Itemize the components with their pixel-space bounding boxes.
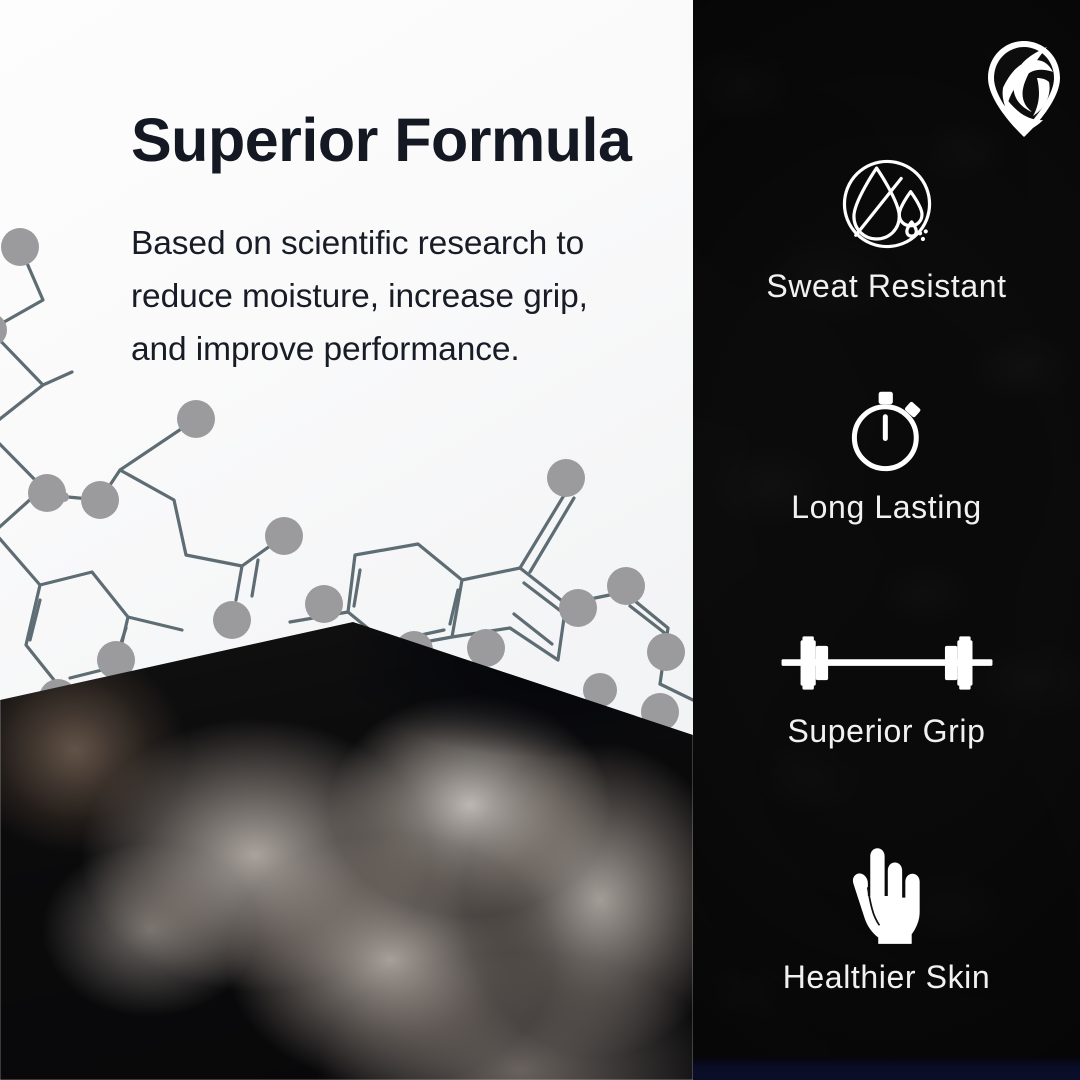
feature-label: Healthier Skin <box>693 961 1080 993</box>
feature-label: Long Lasting <box>693 491 1080 523</box>
brand-leaf-logo <box>983 38 1065 138</box>
left-panel: Superior Formula Based on scientific res… <box>0 0 693 1080</box>
barbell-icon <box>777 625 997 701</box>
open-hand-icon <box>843 845 931 947</box>
page-title: Superior Formula <box>131 109 671 172</box>
water-drop-no-sweat-icon <box>835 152 939 256</box>
feature-superior-grip: Superior Grip <box>693 625 1080 747</box>
infographic-canvas: Superior Formula Based on scientific res… <box>0 0 1080 1080</box>
bottom-accent-bar <box>693 1058 1080 1080</box>
feature-label: Sweat Resistant <box>693 270 1080 302</box>
right-feature-panel: Sweat Resistant Long Lasting <box>693 0 1080 1080</box>
chalked-hands-photo <box>0 600 693 1080</box>
subheadline-text: Based on scientific research to reduce m… <box>131 217 651 377</box>
feature-healthier-skin: Healthier Skin <box>693 845 1080 993</box>
stopwatch-icon <box>841 385 933 477</box>
feature-label: Superior Grip <box>693 715 1080 747</box>
photo-shadow-overlay <box>330 618 693 768</box>
feature-sweat-resistant: Sweat Resistant <box>693 152 1080 302</box>
feature-long-lasting: Long Lasting <box>693 385 1080 523</box>
